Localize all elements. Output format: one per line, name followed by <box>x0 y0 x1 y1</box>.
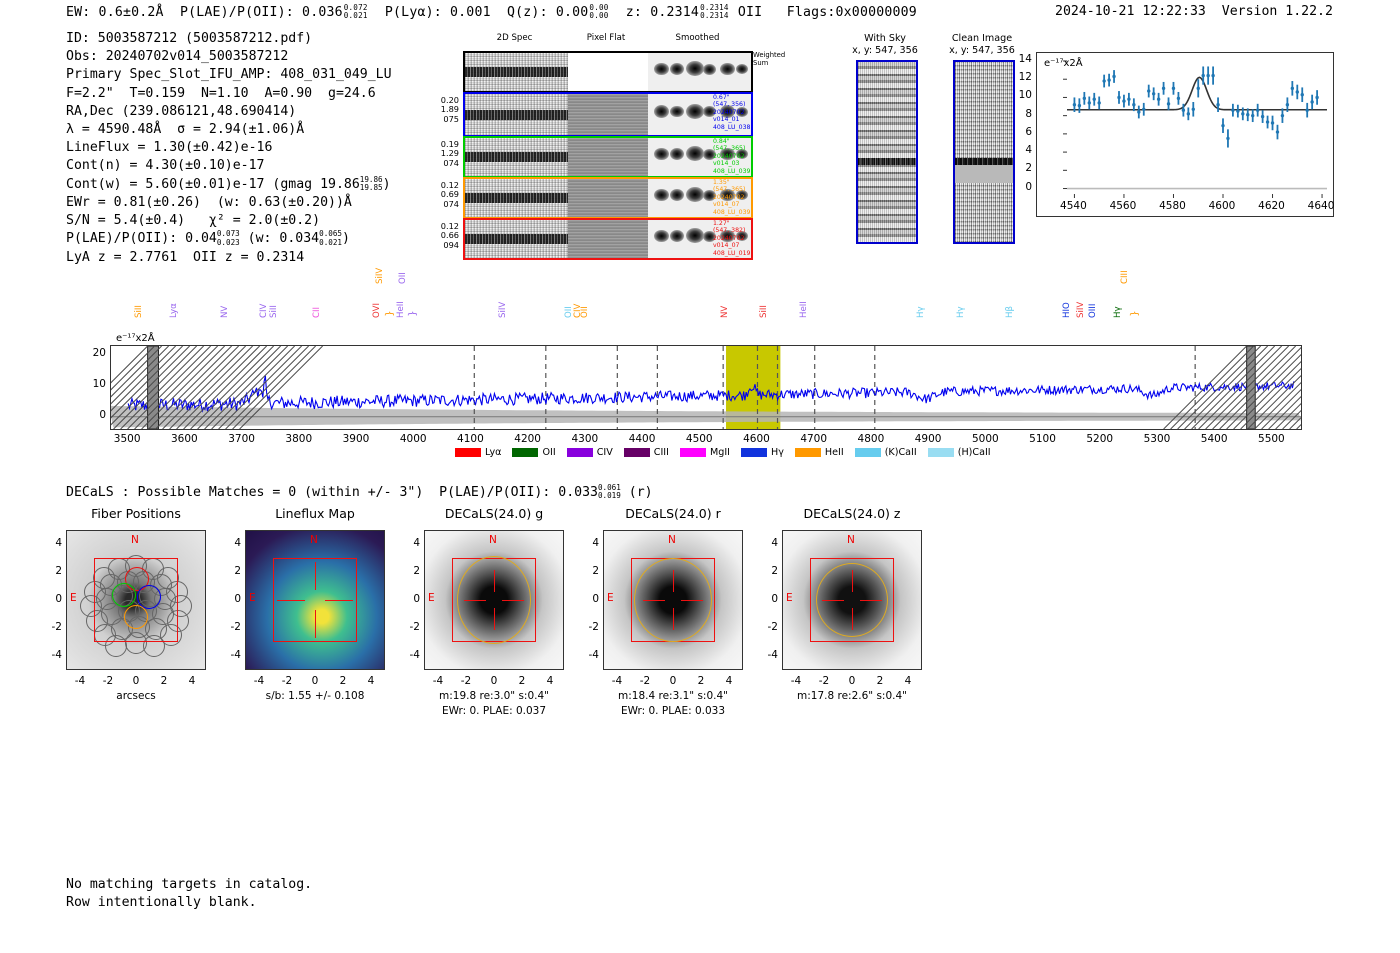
spec2d-row-right-label: 0.67"(547, 356)20240702v014_01408_LU_038 <box>713 94 769 131</box>
clean-image-cutout <box>953 60 1015 244</box>
aperture-box <box>94 558 178 642</box>
header-timestamp-version: 2024-10-21 12:22:33 Version 1.22.2 <box>1055 4 1333 19</box>
legend-item: CIII <box>624 447 669 458</box>
spec2d-row-right-label: 0.84"(547, 365)20240702v014_03408_LU_039 <box>713 138 769 175</box>
crosshair-arm <box>325 600 353 601</box>
info-plae: P(LAE)/P(OII): 0.040.0730.023 (w: 0.0340… <box>66 230 392 248</box>
spectrum-line-label: HeII <box>396 301 406 318</box>
header-version: Version 1.22.2 <box>1222 4 1333 19</box>
decals-xtick: 4 <box>713 675 745 687</box>
decals-ytick: 4 <box>577 537 599 549</box>
source-ellipse <box>457 556 531 644</box>
decals-ytick: 4 <box>40 537 62 549</box>
spectrum-line-label: OIII <box>1088 304 1098 318</box>
spectrum-xtick: 5300 <box>1132 433 1182 445</box>
spectrum-line-brace: { <box>407 310 418 316</box>
legend-label: CIII <box>654 447 669 458</box>
decals-ytick: 2 <box>756 565 778 577</box>
decals-ytick: 2 <box>219 565 241 577</box>
info-plae-w-errors: 0.0650.021 <box>319 230 342 246</box>
source-ellipse <box>634 558 712 642</box>
compass-east-label: E <box>786 592 793 604</box>
spectrum-xtick: 3800 <box>274 433 324 445</box>
decals-ytick: 2 <box>398 565 420 577</box>
decals-ytick: -4 <box>756 649 778 661</box>
spectrum-line-label: SiIV <box>1076 302 1086 318</box>
spectrum-xtick: 4800 <box>846 433 896 445</box>
spectrum-legend: LyαOIICIVCIIIMgIIHγHeII(K)CaII(H)CaII <box>455 447 991 458</box>
decals-ytick: -4 <box>40 649 62 661</box>
spectrum-xtick: 5000 <box>960 433 1010 445</box>
info-cont-w-close: ) <box>383 177 391 192</box>
compass-north-label: N <box>489 534 497 546</box>
fit-plot-ytick: 6 <box>1010 126 1032 138</box>
spec2d-col-title-2dspec: 2D Spec <box>463 33 566 43</box>
header-qz: Q(z): 0.00 <box>507 5 588 20</box>
spectrum-ytick: 20 <box>82 347 106 359</box>
decals-caption: s/b: 1.55 +/- 0.108 <box>215 690 415 702</box>
decals-ytick: -2 <box>398 621 420 633</box>
decals-ytick: 4 <box>398 537 420 549</box>
fit-plot-xtick: 4580 <box>1150 200 1194 212</box>
legend-item: Hγ <box>741 447 784 458</box>
spectrum-line-brace: { <box>384 310 395 316</box>
spectrum-line-label: OII <box>398 272 408 284</box>
footer-note: No matching targets in catalog. Row inte… <box>66 876 312 912</box>
spectrum-xtick: 5200 <box>1075 433 1125 445</box>
decals-ytick: -4 <box>577 649 599 661</box>
fit-plot-ytick: 0 <box>1010 181 1032 193</box>
spectrum-line-label: Hγ <box>1113 306 1123 318</box>
fit-plot-ytick: 4 <box>1010 144 1032 156</box>
spec2d-weighted-sum-label: Weighted Sum <box>753 51 785 67</box>
spectrum-line-label: OVI <box>372 303 382 318</box>
spectrum-line-label: CIII <box>1120 270 1130 284</box>
spec2d-cell-2dspec <box>465 94 568 135</box>
legend-swatch <box>795 448 821 457</box>
spectrum-xtick: 4400 <box>617 433 667 445</box>
spec2d-cell-2dspec <box>465 138 568 176</box>
spec2d-row-right-label: 1.35"(547, 365)20240702v014_07408_LU_039 <box>713 179 769 216</box>
header-z: z: 0.2314 <box>626 5 699 20</box>
compass-north-label: N <box>847 534 855 546</box>
spectrum-line-label: NV <box>220 306 230 318</box>
crosshair-arm <box>315 562 316 590</box>
spec2d-cell-pixelflat <box>568 220 648 258</box>
spectrum-xtick: 4300 <box>560 433 610 445</box>
decals-xtick: 4 <box>355 675 387 687</box>
decals-panel-title: DECaLS(24.0) g <box>404 506 584 521</box>
info-cont-n: Cont(n) = 4.30(±0.10)e-17 <box>66 157 392 175</box>
spectrum-svg <box>111 346 1301 429</box>
info-primary-spec: Primary Spec_Slot_IFU_AMP: 408_031_049_L… <box>66 66 392 84</box>
spec2d-cell-pixelflat <box>568 94 648 135</box>
decals-caption: m:18.4 re:3.1" s:0.4" <box>573 690 773 702</box>
spectrum-line-label: Hγ <box>956 306 966 318</box>
decals-caption-secondary: EWr: 0. PLAE: 0.037 <box>394 705 594 717</box>
info-seeing: F=2.2" T=0.159 N=1.10 A=0.90 g=24.6 <box>66 85 392 103</box>
spectrum-xtick: 3600 <box>159 433 209 445</box>
spec2d-col-title-smoothed: Smoothed <box>646 33 749 43</box>
header-qz-errors: 0.000.00 <box>589 4 608 20</box>
info-lambda-sigma: λ = 4590.48Å σ = 2.94(±1.06)Å <box>66 121 392 139</box>
spec2d-cell-2dspec <box>465 53 568 91</box>
decals-ytick: -2 <box>756 621 778 633</box>
spec2d-panel-group: 2D Spec Pixel Flat Smoothed Weighted Sum… <box>425 33 765 248</box>
header-z-species: OII <box>738 5 762 20</box>
spec2d-cell-pixelflat <box>568 138 648 176</box>
spectrum-xtick: 4000 <box>388 433 438 445</box>
spectrum-xtick: 5400 <box>1189 433 1239 445</box>
decals-header-errors: 0.0610.019 <box>598 484 621 500</box>
header-ew: EW: 0.6±0.2Å <box>66 5 164 20</box>
spectrum-line-label: Hγ <box>916 306 926 318</box>
spectrum-line-label: SiII <box>269 305 279 318</box>
spec2d-row-left-label: 0.191.29074 <box>425 140 459 168</box>
legend-label: OII <box>542 447 555 458</box>
info-lineflux: LineFlux = 1.30(±0.42)e-16 <box>66 139 392 157</box>
footer-line-1: No matching targets in catalog. <box>66 876 312 894</box>
legend-swatch <box>741 448 767 457</box>
fit-plot-xtick: 4600 <box>1200 200 1244 212</box>
header-summary-line: EW: 0.6±0.2Å P(LAE)/P(OII): 0.0360.0720.… <box>66 4 917 20</box>
legend-item: (H)CaII <box>928 447 991 458</box>
spectrum-xtick: 4600 <box>731 433 781 445</box>
spectrum-xtick: 4200 <box>503 433 553 445</box>
fit-plot-xtick: 4620 <box>1250 200 1294 212</box>
clean-image-coords: x, y: 547, 356 <box>949 45 1015 56</box>
header-z-errors: 0.23140.2314 <box>700 4 729 20</box>
decals-ytick: 4 <box>756 537 778 549</box>
decals-ytick: -2 <box>577 621 599 633</box>
compass-north-label: N <box>131 534 139 546</box>
legend-label: CIV <box>597 447 613 458</box>
spec2d-col-title-pixelflat: Pixel Flat <box>566 33 646 43</box>
decals-ytick: -2 <box>40 621 62 633</box>
info-cont-w: Cont(w) = 5.60(±0.01)e-17 (gmag 19.8619.… <box>66 176 392 194</box>
decals-ytick: -4 <box>219 649 241 661</box>
spec2d-row <box>463 51 753 93</box>
decals-panel-title: DECaLS(24.0) r <box>583 506 763 521</box>
info-cont-w-errors: 19.8619.85 <box>360 176 383 192</box>
spectrum-xtick: 5500 <box>1246 433 1296 445</box>
emission-line-fit-plot <box>1036 52 1334 217</box>
spectrum-line-label: Hβ <box>1005 306 1015 318</box>
spectrum-line-label: SiII <box>759 305 769 318</box>
header-plae-label: P(LAE)/P(OII): 0.036 <box>180 5 343 20</box>
info-ewr: EWr = 0.81(±0.26) (w: 0.63(±0.20))Å <box>66 194 392 212</box>
legend-item: HeII <box>795 447 844 458</box>
info-plae-errors: 0.0730.023 <box>217 230 240 246</box>
decals-ytick: 4 <box>219 537 241 549</box>
decals-xtick: 4 <box>176 675 208 687</box>
spectrum-xtick: 5100 <box>1018 433 1068 445</box>
spectrum-line-label: HeII <box>799 301 809 318</box>
info-id: ID: 5003587212 (5003587212.pdf) <box>66 30 392 48</box>
spectrum-ytick: 10 <box>82 378 106 390</box>
fit-plot-svg <box>1037 53 1335 218</box>
legend-swatch <box>567 448 593 457</box>
header-datetime-value: 2024-10-21 12:22:33 <box>1055 4 1206 19</box>
decals-caption: m:17.8 re:2.6" s:0.4" <box>752 690 952 702</box>
spectrum-line-label: CIV <box>259 304 269 318</box>
decals-ytick: 0 <box>577 593 599 605</box>
spectrum-xtick: 4100 <box>445 433 495 445</box>
info-cont-w-text: Cont(w) = 5.60(±0.01)e-17 (gmag 19.86 <box>66 177 360 192</box>
spec2d-row <box>463 92 753 137</box>
decals-ytick: 0 <box>40 593 62 605</box>
decals-xtick: 4 <box>534 675 566 687</box>
spec2d-row <box>463 218 753 260</box>
fit-plot-ytick: 2 <box>1010 162 1032 174</box>
decals-header-text: DECaLS : Possible Matches = 0 (within +/… <box>66 485 598 500</box>
fit-plot-xtick: 4540 <box>1051 200 1095 212</box>
spec2d-row-right-label: 1.27"(547, 382)20240702v014_07408_LU_019 <box>713 220 769 257</box>
spec2d-cell-pixelflat <box>568 179 648 217</box>
decals-caption-secondary: EWr: 0. PLAE: 0.033 <box>573 705 773 717</box>
footer-line-2: Row intentionally blank. <box>66 894 312 912</box>
header-plya: P(Lyα): 0.001 <box>385 5 491 20</box>
legend-item: CIV <box>567 447 613 458</box>
source-ellipse <box>816 563 888 637</box>
legend-swatch <box>512 448 538 457</box>
info-plae-post: ) <box>342 232 350 247</box>
decals-ytick: -2 <box>219 621 241 633</box>
decals-panel-title: Lineflux Map <box>225 506 405 521</box>
decals-header: DECaLS : Possible Matches = 0 (within +/… <box>66 484 653 500</box>
spectrum-xtick: 3900 <box>331 433 381 445</box>
legend-item: (K)CaII <box>855 447 917 458</box>
info-redshifts: LyA z = 2.7761 OII z = 0.2314 <box>66 249 392 267</box>
full-spectrum-plot <box>110 345 1302 430</box>
fit-plot-xtick: 4560 <box>1101 200 1145 212</box>
spec2d-cell-pixelflat <box>568 53 648 91</box>
legend-swatch <box>680 448 706 457</box>
with-sky-title-text: With Sky <box>864 33 906 44</box>
spec2d-cell-2dspec <box>465 220 568 258</box>
header-plae-errors: 0.0720.021 <box>344 4 368 20</box>
info-obs: Obs: 20240702v014_5003587212 <box>66 48 392 66</box>
legend-item: MgII <box>680 447 730 458</box>
info-radec: RA,Dec (239.086121,48.690414) <box>66 103 392 121</box>
crosshair-arm <box>315 610 316 638</box>
spectrum-line-brace: { <box>1129 310 1140 316</box>
compass-north-label: N <box>310 534 318 546</box>
header-flags: Flags:0x00000009 <box>787 5 917 20</box>
fit-plot-ytick: 12 <box>1010 71 1032 83</box>
fit-plot-unit-label: e⁻¹⁷x2Å <box>1044 58 1083 69</box>
legend-swatch <box>928 448 954 457</box>
decals-ytick: 2 <box>40 565 62 577</box>
spectrum-line-label: OII <box>580 306 590 318</box>
compass-east-label: E <box>607 592 614 604</box>
info-plae-pre: P(LAE)/P(OII): 0.04 <box>66 232 217 247</box>
spectrum-xtick: 3500 <box>102 433 152 445</box>
spectrum-ytick: 0 <box>82 409 106 421</box>
legend-swatch <box>855 448 881 457</box>
with-sky-image <box>856 60 918 244</box>
spectrum-xtick: 4700 <box>789 433 839 445</box>
with-sky-coords: x, y: 547, 356 <box>852 45 918 56</box>
spec2d-row-left-label: 0.120.69074 <box>425 181 459 209</box>
legend-label: Lyα <box>485 447 501 458</box>
target-info-block: ID: 5003587212 (5003587212.pdf) Obs: 202… <box>66 30 392 267</box>
fit-plot-ytick: 10 <box>1010 89 1032 101</box>
legend-item: OII <box>512 447 555 458</box>
clean-image-title-text: Clean Image <box>952 33 1012 44</box>
decals-ytick: 0 <box>756 593 778 605</box>
spec2d-row <box>463 136 753 178</box>
spectrum-line-label: Lyα <box>169 303 179 318</box>
spec2d-row <box>463 177 753 219</box>
decals-header-band: (r) <box>629 485 653 500</box>
spectrum-xtick: 4900 <box>903 433 953 445</box>
spectrum-line-label: SiII <box>134 305 144 318</box>
decals-xtick: 4 <box>892 675 924 687</box>
legend-label: MgII <box>710 447 730 458</box>
legend-label: (H)CaII <box>958 447 991 458</box>
spectrum-unit-label: e⁻¹⁷x2Å <box>116 333 155 344</box>
fit-plot-xtick: 4640 <box>1299 200 1343 212</box>
fit-plot-ytick: 8 <box>1010 108 1032 120</box>
decals-ytick: 0 <box>219 593 241 605</box>
compass-north-label: N <box>668 534 676 546</box>
decals-caption: m:19.8 re:3.0" s:0.4" <box>394 690 594 702</box>
legend-label: (K)CaII <box>885 447 917 458</box>
fit-plot-ytick: 14 <box>1010 53 1032 65</box>
spectrum-xtick: 3700 <box>217 433 267 445</box>
spectrum-xtick: 4500 <box>674 433 724 445</box>
decals-ytick: -4 <box>398 649 420 661</box>
spec2d-cell-2dspec <box>465 179 568 217</box>
legend-label: HeII <box>825 447 844 458</box>
spectrum-line-label: SiIV <box>498 302 508 318</box>
decals-xlabel: arcsecs <box>66 690 206 702</box>
spec2d-cell-smoothed <box>648 53 751 91</box>
compass-east-label: E <box>249 592 256 604</box>
legend-item: Lyα <box>455 447 501 458</box>
info-sn-chi2: S/N = 5.4(±0.4) χ² = 2.0(±0.2) <box>66 212 392 230</box>
spectrum-line-label: CII <box>312 307 322 318</box>
spec2d-row-left-label: 0.201.89075 <box>425 96 459 124</box>
crosshair-arm <box>277 600 305 601</box>
spectrum-line-label: NV <box>720 306 730 318</box>
decals-ytick: 0 <box>398 593 420 605</box>
decals-panel-title: Fiber Positions <box>46 506 226 521</box>
compass-east-label: E <box>70 592 77 604</box>
compass-east-label: E <box>428 592 435 604</box>
legend-swatch <box>455 448 481 457</box>
spectrum-line-label: SiIV <box>375 268 385 284</box>
spec2d-row-left-label: 0.120.66094 <box>425 222 459 250</box>
info-plae-mid: (w: 0.034 <box>240 232 319 247</box>
legend-swatch <box>624 448 650 457</box>
legend-label: Hγ <box>771 447 784 458</box>
decals-ytick: 2 <box>577 565 599 577</box>
spectrum-line-label: HIO <box>1062 302 1072 318</box>
decals-panel-title: DECaLS(24.0) z <box>762 506 942 521</box>
